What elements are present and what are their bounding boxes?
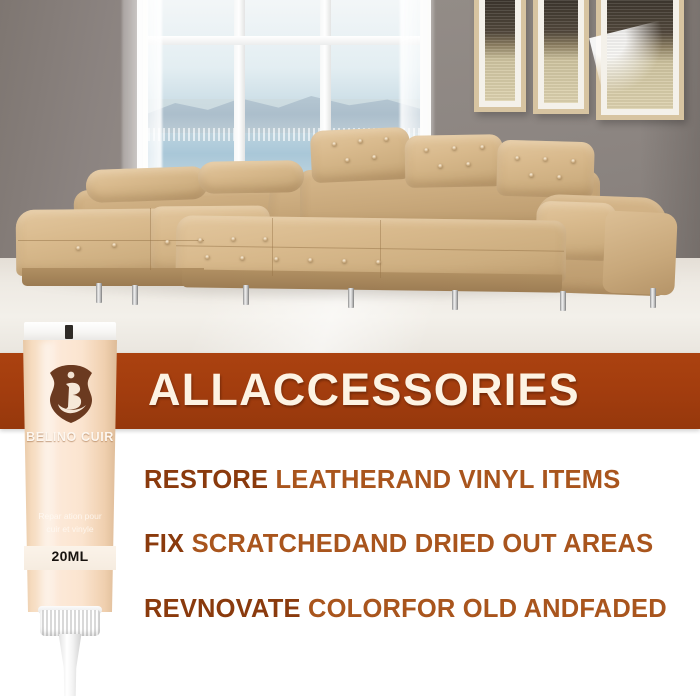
sofa-leg	[560, 291, 566, 311]
tube-description: Repar ation pour cuir et vinyle	[22, 510, 118, 536]
sofa-headrest	[496, 140, 595, 199]
sofa-headrest	[198, 160, 305, 194]
sofa-seam	[272, 218, 273, 276]
tufting-button	[345, 158, 350, 162]
tube-nozzle	[57, 634, 83, 696]
sofa-headrest	[85, 166, 208, 203]
feature-lead: REVNOVATE	[144, 595, 301, 623]
feature-lead: FIX	[144, 530, 184, 558]
tufting-button	[384, 137, 389, 141]
headline-title: ALLACCESSORIES	[148, 364, 580, 416]
tufting-button	[308, 258, 313, 262]
tube-description-line-1: Repar ation pour	[22, 510, 118, 523]
sofa-seam	[150, 208, 151, 270]
tube-collar	[40, 610, 100, 636]
feature-line: RESTORE LEATHERAND VINYL ITEMS	[144, 466, 620, 495]
feature-line: FIX SCRATCHEDAND DRIED OUT AREAS	[144, 530, 653, 559]
tufting-button	[332, 142, 337, 146]
product-tube: BELINO CUIR Repar ation pour cuir et vin…	[18, 322, 122, 700]
tube-seal-mark	[65, 325, 73, 339]
tufting-button	[557, 175, 562, 179]
tufting-button	[274, 257, 279, 261]
feature-line: REVNOVATE COLORFOR OLD ANDFADED	[144, 595, 667, 624]
sofa-headrest	[405, 134, 504, 188]
sofa-seam	[380, 220, 381, 278]
tufting-button	[452, 146, 457, 150]
tufting-button	[231, 237, 236, 241]
tufting-button	[543, 157, 548, 161]
tufting-button	[76, 246, 81, 250]
tufting-button	[112, 243, 117, 247]
product-advertisement: ALLACCESSORIES BELINO CUIR Repar ation p…	[0, 0, 700, 700]
tufting-button	[372, 155, 377, 159]
tufting-button	[263, 237, 268, 241]
sofa-seam	[18, 240, 204, 241]
tube-volume-label: 20ML	[24, 548, 116, 564]
leather-hide-b-monogram-icon	[46, 364, 96, 424]
tufting-button	[376, 260, 381, 264]
tufting-button	[466, 162, 471, 166]
feature-rest: SCRATCHEDAND DRIED OUT AREAS	[192, 530, 654, 558]
sofa-leg	[348, 288, 354, 308]
sofa-leg	[132, 285, 138, 305]
tufting-button	[240, 256, 245, 260]
tufting-button	[358, 139, 363, 143]
tufting-button	[198, 238, 203, 242]
feature-rest: COLORFOR OLD ANDFADED	[308, 595, 667, 623]
feature-rest: LEATHERAND VINYL ITEMS	[276, 466, 621, 494]
room-scene-photo	[0, 0, 700, 356]
sofa-leg	[96, 283, 102, 303]
sofa-leg	[650, 288, 656, 308]
tufting-button	[480, 145, 485, 149]
sofa-headrest	[310, 127, 411, 183]
tufting-button	[515, 156, 520, 160]
sofa-leg	[452, 290, 458, 310]
tube-description-line-2: cuir et vinyle	[22, 523, 118, 536]
tufting-button	[205, 255, 210, 259]
tufting-button	[342, 259, 347, 263]
tufting-button	[529, 173, 534, 177]
leather-sectional-sofa	[0, 0, 700, 330]
brand-name: BELINO CUIR	[18, 430, 122, 444]
tufting-button	[438, 164, 443, 168]
tufting-button	[424, 148, 429, 152]
tufting-button	[165, 240, 170, 244]
tufting-button	[571, 159, 576, 163]
sofa-base-chaise	[22, 268, 204, 286]
sofa-leg	[243, 285, 249, 305]
sofa-arm-front-right	[602, 210, 678, 295]
feature-lead: RESTORE	[144, 466, 268, 494]
